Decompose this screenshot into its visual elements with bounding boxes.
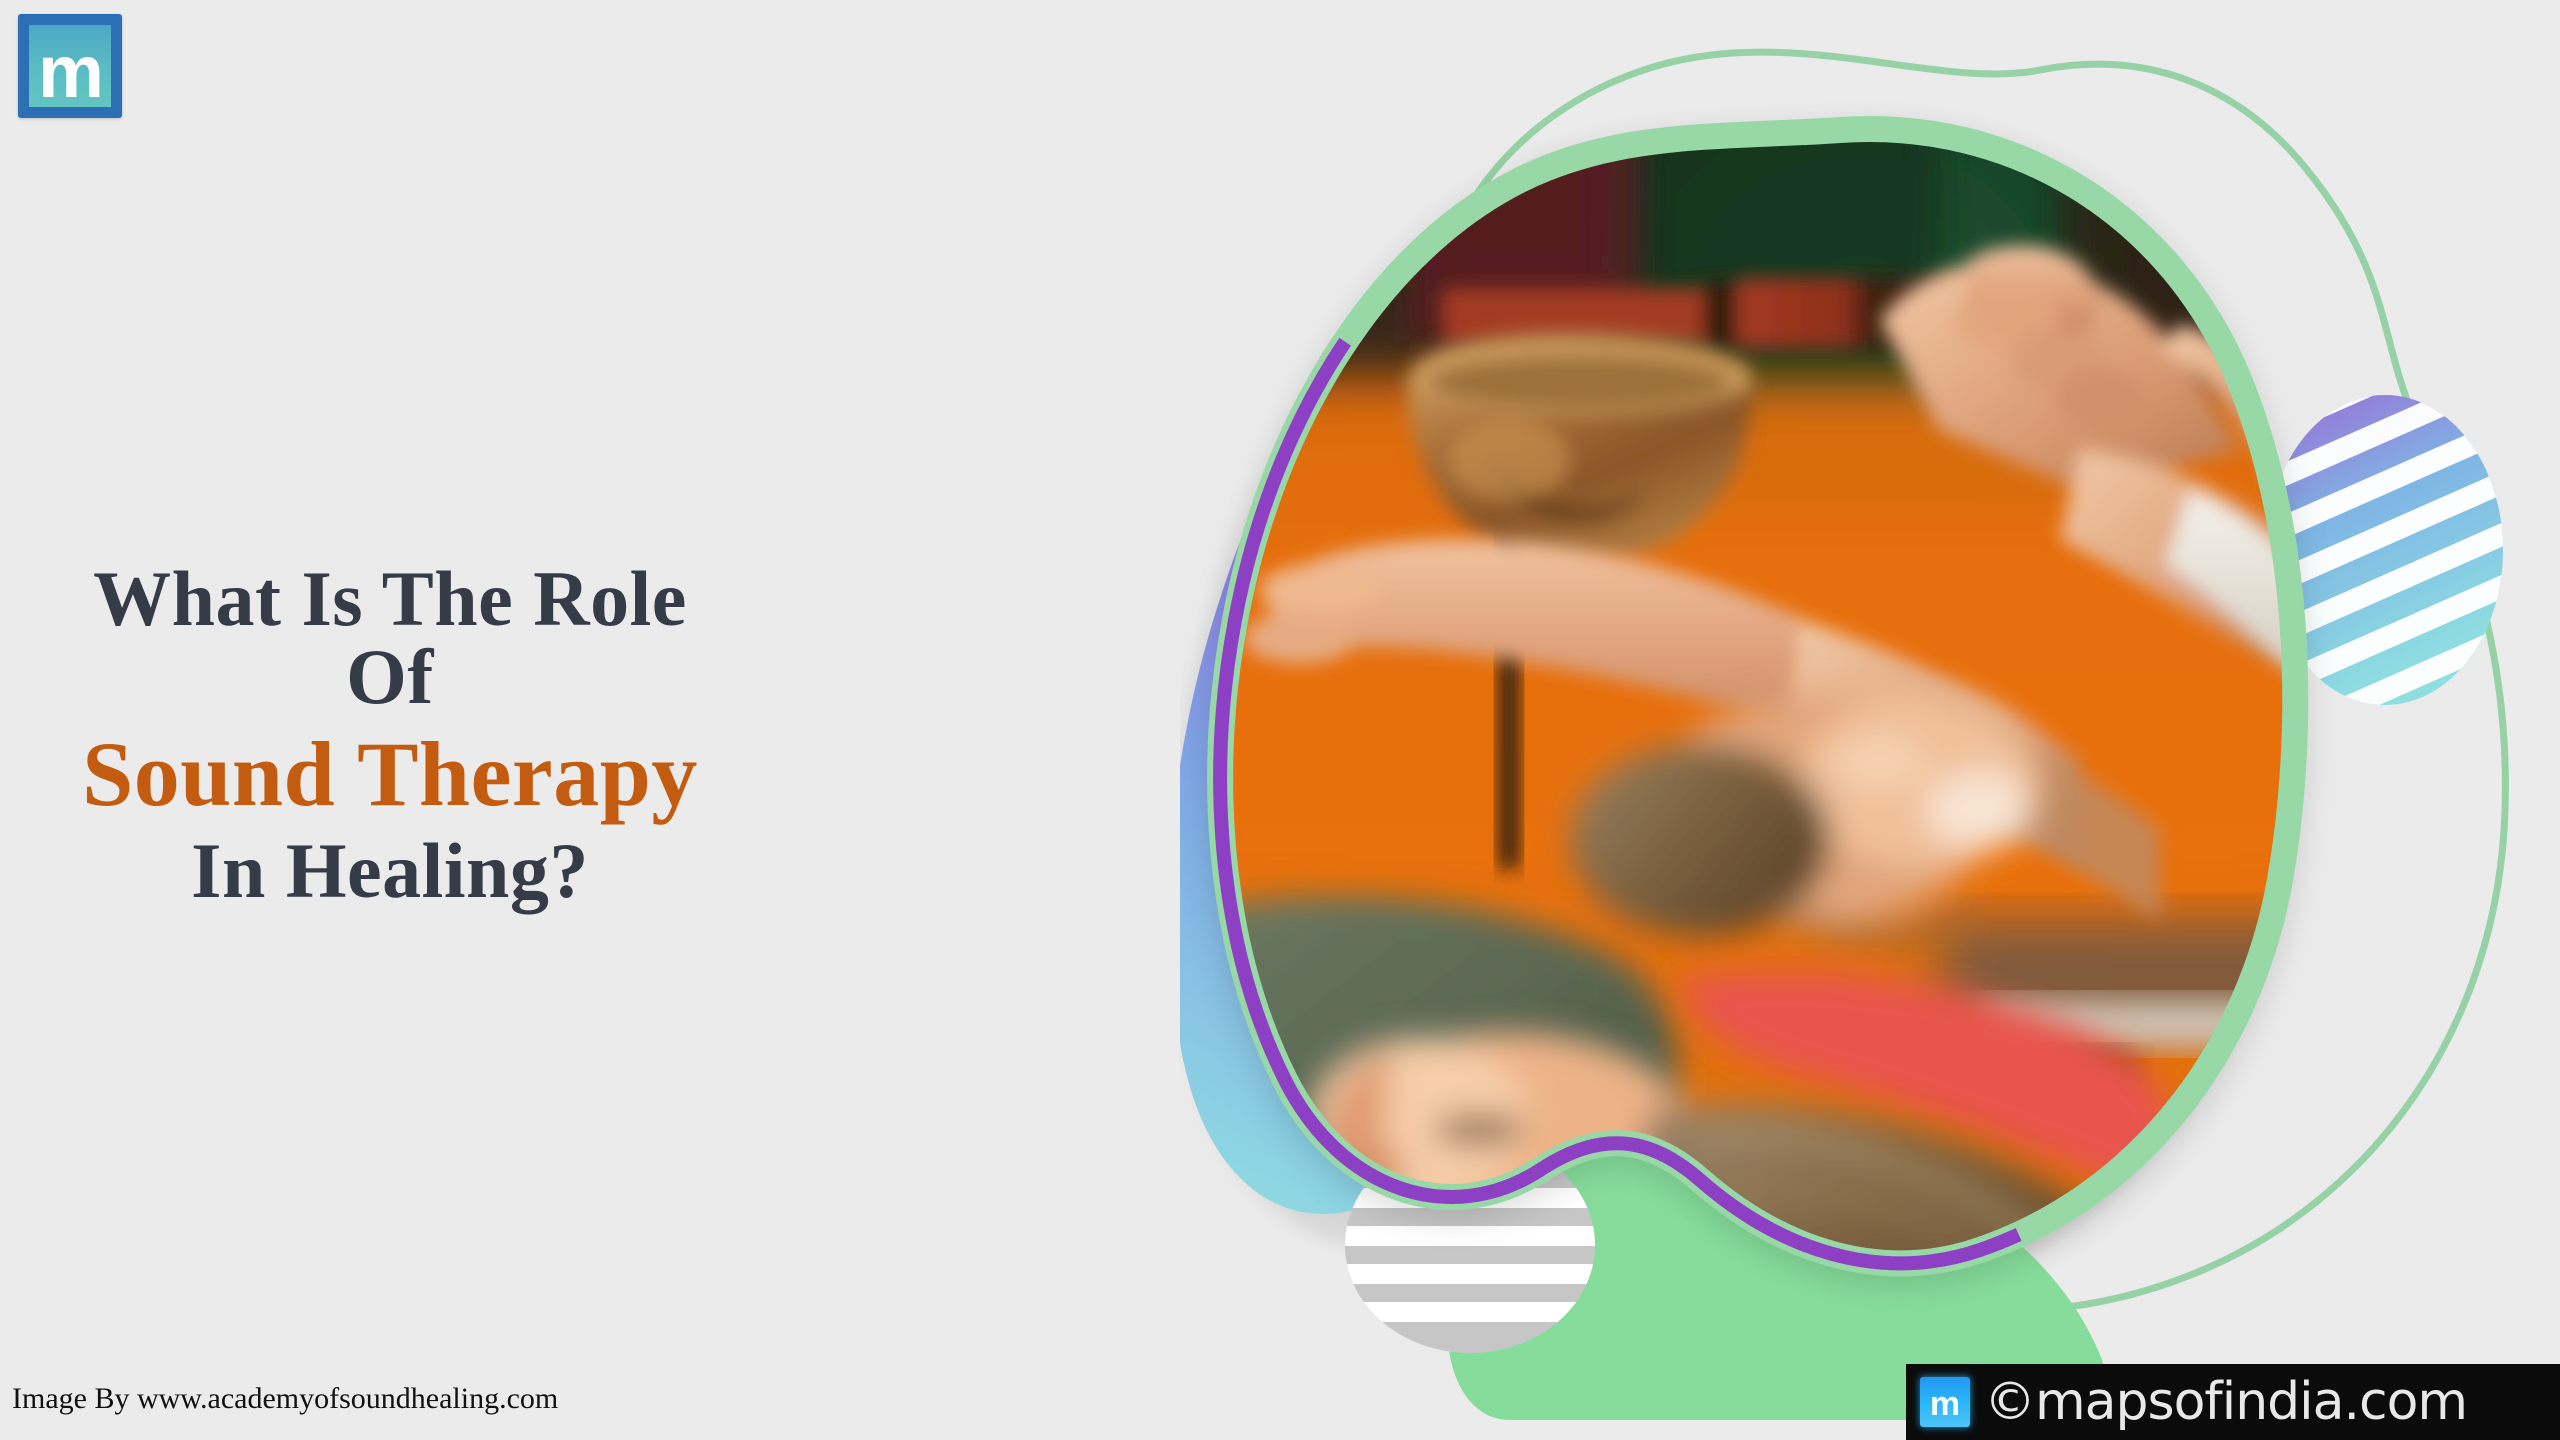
watermark-bar: m ©mapsofindia.com bbox=[1906, 1364, 2560, 1440]
logo-inner-tile: m bbox=[29, 25, 111, 107]
title-line-2-accent: Sound Therapy bbox=[40, 728, 740, 820]
watermark-text: ©mapsofindia.com bbox=[1984, 1372, 2467, 1432]
watermark-logo-letter: m bbox=[1930, 1391, 1960, 1418]
hero-artwork bbox=[1180, 20, 2560, 1420]
watermark-logo-icon: m bbox=[1920, 1377, 1970, 1427]
logo-letter: m bbox=[38, 43, 102, 101]
poster-canvas: m What Is The Role Of Sound Therapy In H… bbox=[0, 0, 2560, 1440]
mapsofindia-logo-icon[interactable]: m bbox=[18, 14, 122, 118]
image-credit-caption: Image By www.academyofsoundhealing.com bbox=[12, 1382, 558, 1416]
title-line-3: In Healing? bbox=[40, 832, 740, 910]
page-title: What Is The Role Of Sound Therapy In Hea… bbox=[40, 560, 740, 910]
title-line-1: What Is The Role Of bbox=[40, 560, 740, 716]
